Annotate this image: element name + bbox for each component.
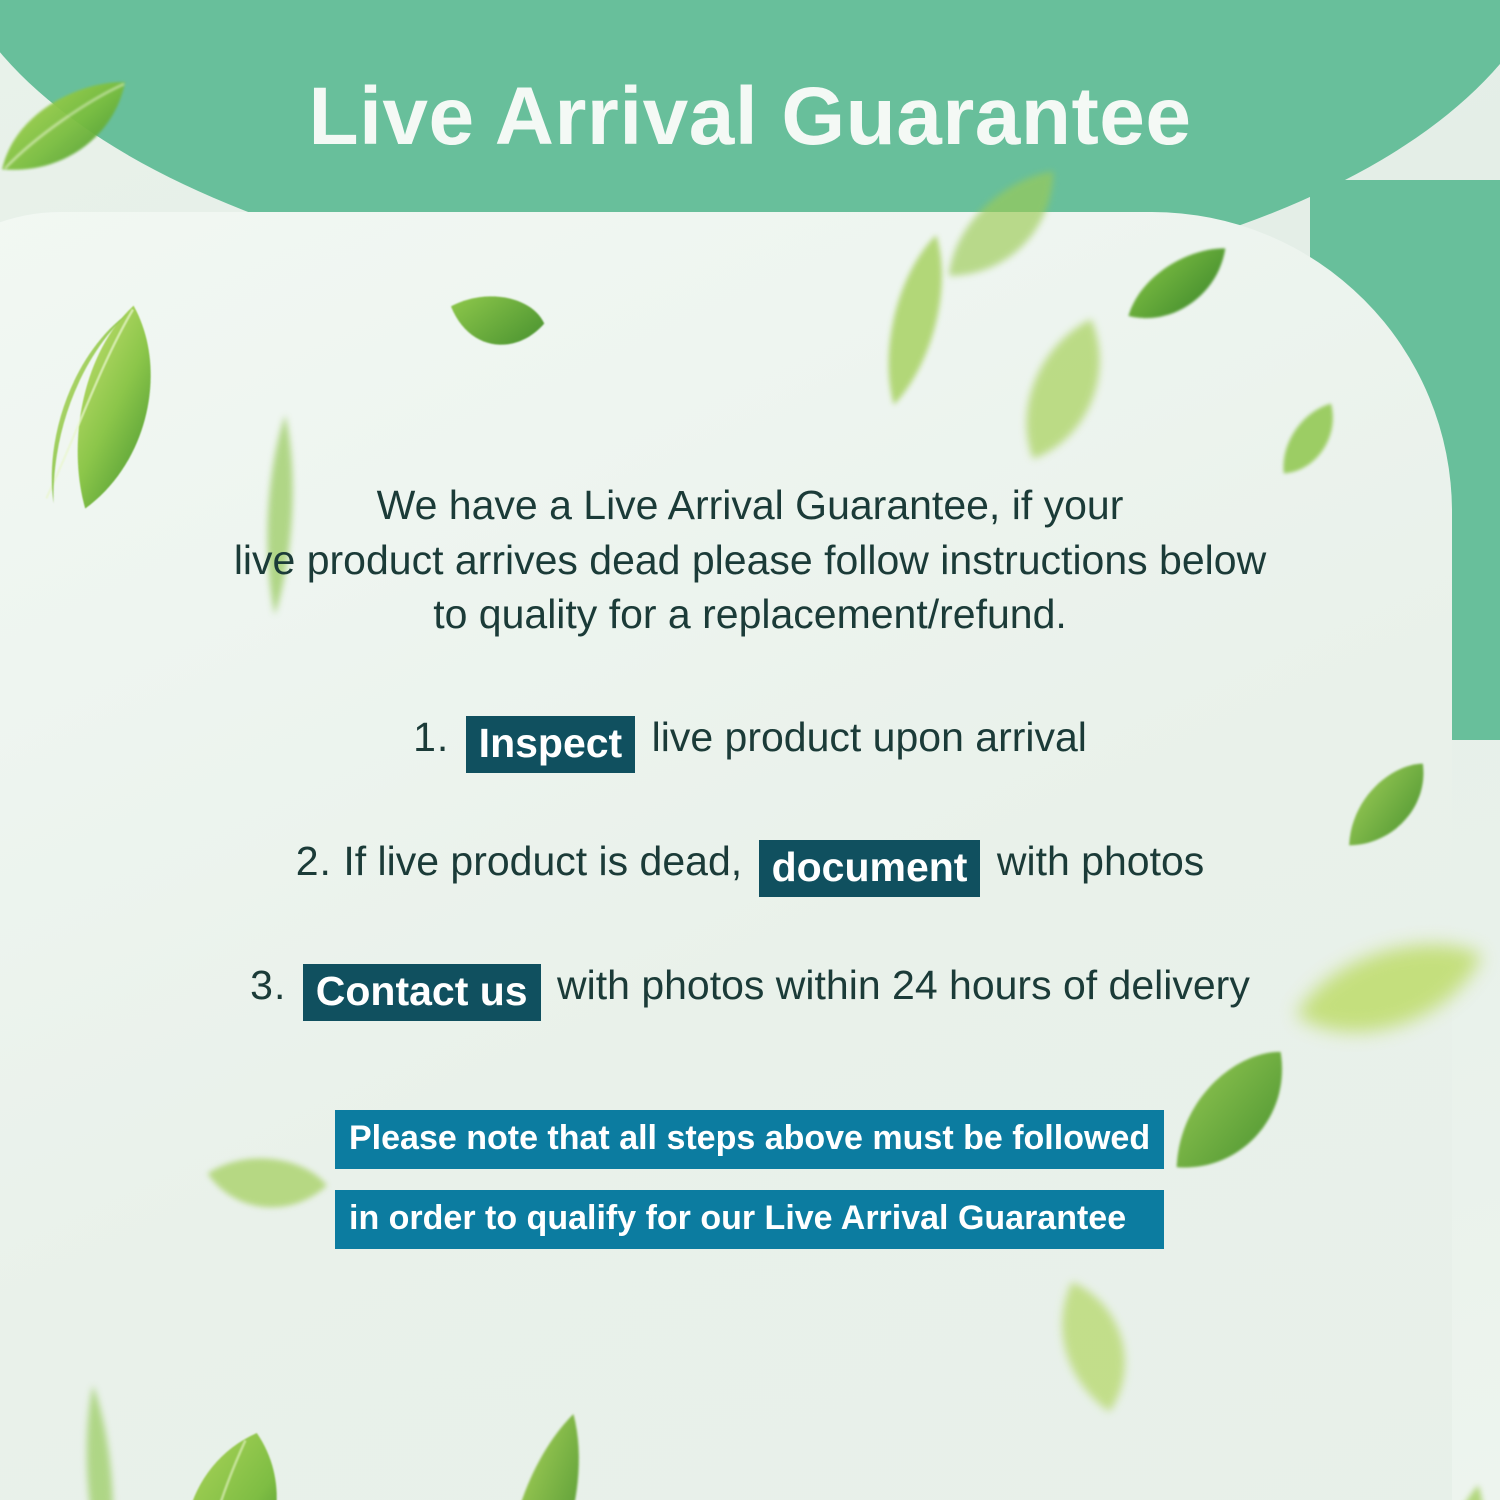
steps-list: 1. Inspect live product upon arrival 2. …	[0, 710, 1500, 1082]
step-text: live product upon arrival	[652, 714, 1087, 760]
intro-line-1: We have a Live Arrival Guarantee, if you…	[0, 478, 1500, 533]
step-highlight-inspect: Inspect	[466, 716, 636, 773]
intro-paragraph: We have a Live Arrival Guarantee, if you…	[0, 478, 1500, 642]
step-item: 2. If live product is dead, document wit…	[0, 834, 1500, 891]
note-banner-line-2: in order to qualify for our Live Arrival…	[335, 1190, 1164, 1249]
step-text-before: If live product is dead,	[343, 838, 742, 884]
step-number: 3.	[250, 962, 286, 1008]
footer-notes: Please note that all steps above must be…	[335, 1110, 1164, 1270]
note-banner-line-1: Please note that all steps above must be…	[335, 1110, 1164, 1169]
page-title: Live Arrival Guarantee	[0, 76, 1500, 158]
intro-line-3: to quality for a replacement/refund.	[0, 587, 1500, 642]
intro-line-2: live product arrives dead please follow …	[0, 533, 1500, 588]
step-number: 1.	[413, 714, 449, 760]
step-text: with photos	[997, 838, 1204, 884]
step-item: 3. Contact us with photos within 24 hour…	[0, 958, 1500, 1015]
step-number: 2.	[296, 838, 332, 884]
step-highlight-document: document	[759, 840, 981, 897]
step-item: 1. Inspect live product upon arrival	[0, 710, 1500, 767]
live-arrival-guarantee-poster: Live Arrival Guarantee We have a Live Ar…	[0, 0, 1500, 1500]
step-highlight-contact-us: Contact us	[303, 964, 541, 1021]
step-text: with photos within 24 hours of delivery	[557, 962, 1250, 1008]
